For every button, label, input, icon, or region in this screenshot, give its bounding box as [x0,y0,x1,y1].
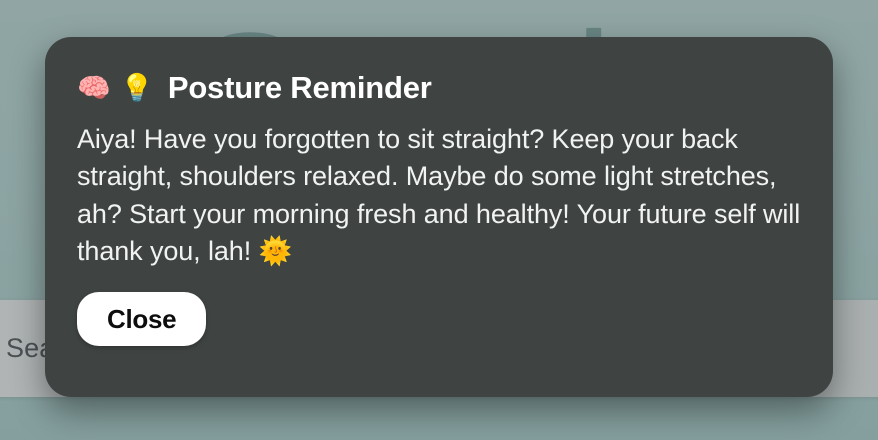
dialog-message: Aiya! Have you forgotten to sit straight… [77,121,801,270]
close-button[interactable]: Close [77,292,206,346]
posture-reminder-dialog: 🧠 💡 Posture Reminder Aiya! Have you forg… [45,37,833,397]
brain-icon: 🧠 [77,75,110,102]
dialog-title-row: 🧠 💡 Posture Reminder [77,71,801,105]
screen: Google Search Google or type a URL 🧠 💡 P… [0,0,878,440]
dialog-title: Posture Reminder [168,71,432,105]
lightbulb-icon: 💡 [120,75,153,102]
dialog-actions: Close [77,292,801,346]
